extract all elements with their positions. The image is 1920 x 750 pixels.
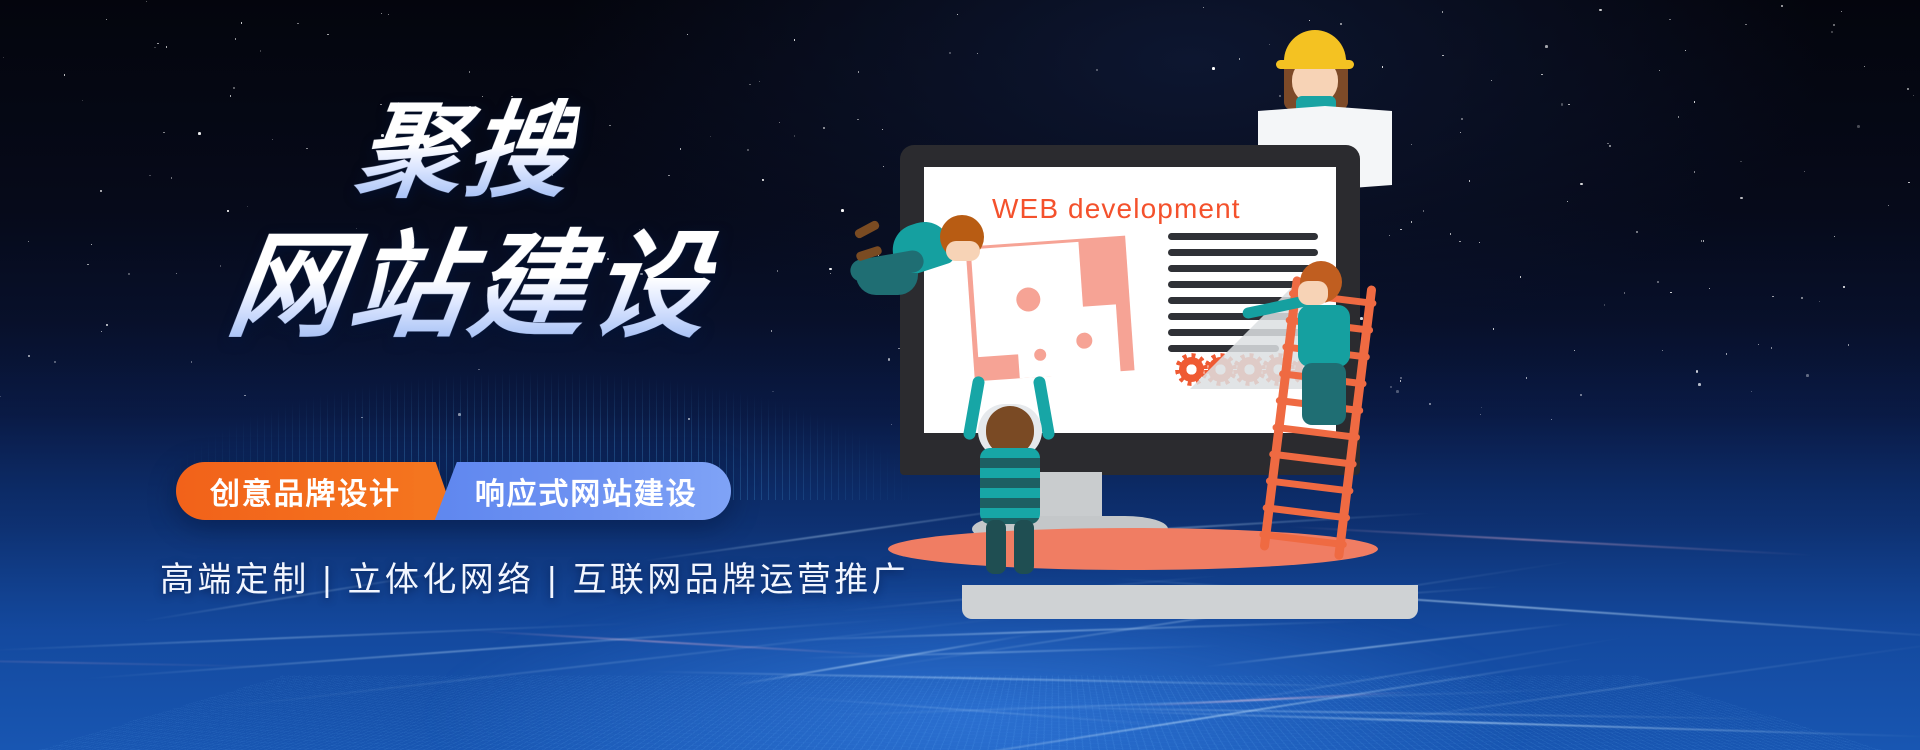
hero-banner: 聚搜 网站建设 创意品牌设计 响应式网站建设 高端定制 | 立体化网络 | 互联… [0, 0, 1920, 750]
tag-group: 创意品牌设计 响应式网站建设 [176, 462, 731, 520]
leg-right [1014, 520, 1034, 574]
illustration: WEB development [840, 0, 1920, 750]
striped-shirt [980, 448, 1040, 524]
subtitle: 高端定制 | 立体化网络 | 互联网品牌运营推广 [160, 552, 909, 601]
torso [1298, 305, 1350, 367]
ladder-rung [1266, 477, 1354, 495]
ladder-rung [1262, 504, 1350, 522]
gear-medium-icon [1057, 313, 1113, 369]
shoe-upper [853, 219, 880, 239]
kid-lifting-poster [960, 370, 1070, 570]
hard-hat-icon [1284, 30, 1346, 64]
hard-hat-brim [1276, 60, 1354, 69]
legs [1302, 363, 1346, 425]
copy-block: 聚搜 网站建设 创意品牌设计 响应式网站建设 高端定制 | 立体化网络 | 互联… [0, 0, 880, 750]
gear-small-icon [1022, 337, 1058, 373]
gear-mini-icon [1179, 357, 1204, 382]
ladder-rung [1259, 531, 1347, 549]
face [946, 241, 980, 261]
ladder-rung [1269, 450, 1357, 468]
headline: 网站建设 [221, 226, 721, 348]
tag-creative-brand-design[interactable]: 创意品牌设计 [176, 462, 435, 520]
worker-lying-on-bezel [850, 215, 1050, 335]
brand-title: 聚搜 [350, 98, 582, 207]
tag-responsive-website[interactable]: 响应式网站建设 [435, 462, 732, 520]
monitor-chin [962, 585, 1418, 619]
text-line [1168, 233, 1318, 240]
foot [856, 273, 918, 295]
worker-on-ladder [1240, 255, 1370, 435]
face [1298, 281, 1328, 305]
leg-left [986, 520, 1006, 574]
